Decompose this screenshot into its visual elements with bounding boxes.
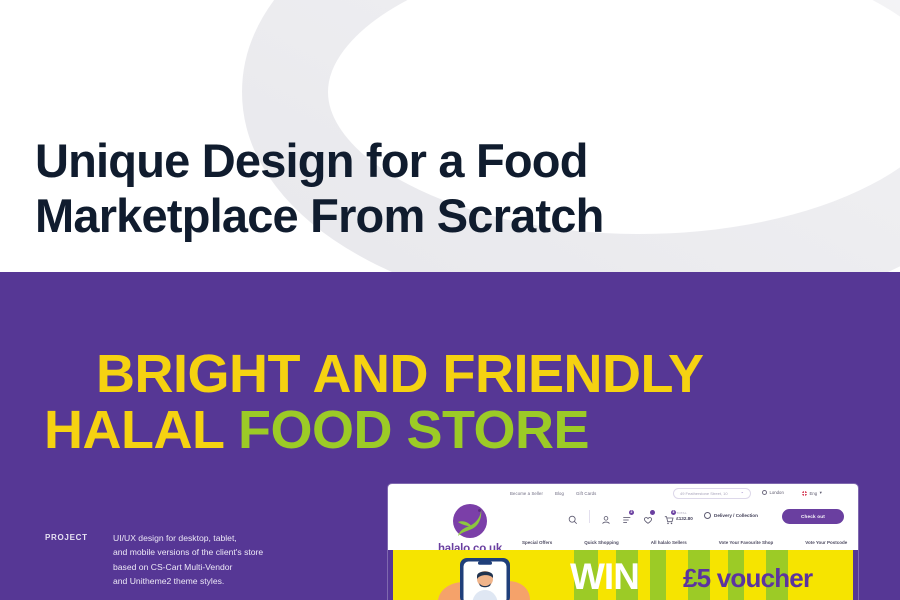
banner-left-edge: [388, 550, 393, 600]
cart-icon[interactable]: 3: [664, 512, 674, 522]
nav-item-special-offers[interactable]: Special Offers: [522, 540, 552, 545]
address-selector[interactable]: 49 Featherstone Street, 10 ⌃: [673, 488, 751, 499]
checkout-button[interactable]: Check out: [782, 509, 844, 524]
wishlist-badge: [650, 510, 655, 515]
compare-icon[interactable]: 2: [622, 512, 632, 522]
top-link-blog[interactable]: Blog: [555, 491, 564, 496]
account-icon[interactable]: [601, 512, 611, 522]
mockup-main-nav: Special Offers Quick Shopping All halalo…: [388, 534, 858, 550]
flag-icon: [802, 491, 807, 496]
cart-widget[interactable]: 3 TOTAL £132.80: [664, 512, 693, 522]
cart-total-value: £132.80: [676, 516, 693, 521]
mockup-action-icons: 2 3 TOTAL £132: [568, 510, 693, 523]
website-mockup: Become a Seller Blog Gift Cards 49 Feath…: [388, 484, 858, 600]
location-label: London: [770, 490, 784, 495]
banner-stripe: [650, 550, 666, 600]
location-pin-icon: [762, 490, 767, 495]
mockup-top-links: Become a Seller Blog Gift Cards: [510, 491, 596, 496]
slide-heading: BRIGHT AND FRIENDLY HALAL FOOD STORE: [44, 346, 704, 458]
top-link-gift-cards[interactable]: Gift Cards: [576, 491, 596, 496]
nav-item-vote-your-favourite-shop[interactable]: Vote Your Favourite Shop: [719, 540, 774, 545]
promo-banner[interactable]: WIN £5 voucher: [388, 550, 858, 600]
language-selector[interactable]: Eng ▾: [802, 490, 822, 496]
slide-heading-food-store: FOOD STORE: [238, 400, 589, 460]
slide-heading-line1: BRIGHT AND FRIENDLY: [44, 346, 704, 402]
slide-canvas: Unique Design for a Food Marketplace Fro…: [0, 0, 900, 600]
delivery-label: Delivery / Collection: [714, 513, 758, 518]
nav-item-vote-your-postcode[interactable]: Vote Your Postcode: [805, 540, 847, 545]
slide-heading-line2: HALAL FOOD STORE: [44, 402, 704, 458]
project-label: PROJECT: [45, 533, 88, 542]
compare-badge: 2: [629, 510, 634, 515]
search-icon[interactable]: [568, 512, 578, 522]
banner-win-text: WIN: [570, 558, 639, 595]
location-selector[interactable]: London: [762, 490, 784, 495]
banner-right-edge: [853, 550, 858, 600]
hero-section: Unique Design for a Food Marketplace Fro…: [0, 0, 900, 272]
top-link-become-a-seller[interactable]: Become a Seller: [510, 491, 543, 496]
project-description: UI/UX design for desktop, tablet, and mo…: [113, 531, 313, 589]
chevron-down-icon: ▾: [820, 490, 822, 496]
banner-voucher-text: £5 voucher: [683, 564, 812, 592]
page-title: Unique Design for a Food Marketplace Fro…: [35, 133, 855, 243]
icon-divider: [589, 510, 590, 523]
nav-item-quick-shopping[interactable]: Quick Shopping: [584, 540, 619, 545]
slide-heading-halal: HALAL: [44, 400, 238, 460]
cart-total: TOTAL £132.80: [676, 512, 693, 521]
delivery-collection-selector[interactable]: Delivery / Collection: [704, 512, 758, 519]
phone-illustration-icon: [434, 552, 564, 600]
language-label: Eng: [810, 491, 818, 496]
clock-icon: [704, 512, 711, 519]
cart-badge: 3: [671, 510, 676, 515]
wishlist-icon[interactable]: [643, 512, 653, 522]
chevron-up-icon: ⌃: [741, 491, 744, 496]
nav-item-all-halalo-sellers[interactable]: All halalo Sellers: [651, 540, 687, 545]
address-value: 49 Featherstone Street, 10: [680, 491, 738, 496]
